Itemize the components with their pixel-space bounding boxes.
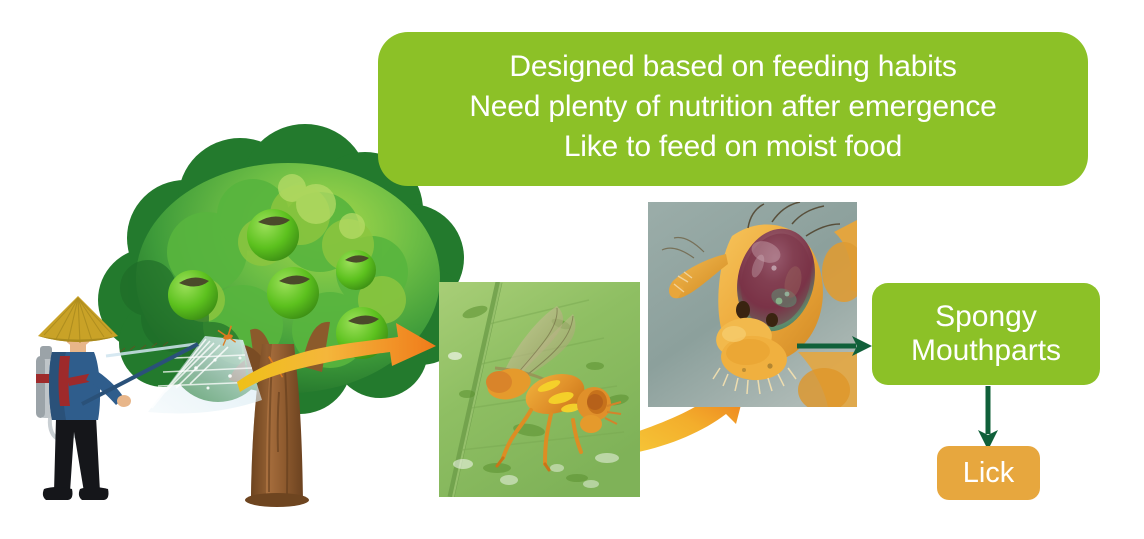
- conical-hat: [38, 296, 118, 343]
- photo-fruit-fly-on-leaf: [439, 282, 640, 497]
- farmer-with-sprayer: [36, 296, 198, 500]
- spongy-mouthparts-box: Spongy Mouthparts: [872, 283, 1100, 385]
- photo-fruit-fly-head-closeup: [648, 202, 857, 407]
- pest-flies: [218, 326, 286, 377]
- lick-box: Lick: [937, 446, 1040, 500]
- spray-cone: [106, 336, 262, 414]
- lick-label: Lick: [963, 459, 1015, 488]
- spongy-mouthparts-label: Spongy Mouthparts: [911, 300, 1061, 368]
- banner-line-1: Designed based on feeding habits: [509, 47, 956, 87]
- banner-line-2: Need plenty of nutrition after emergence: [469, 87, 996, 127]
- tree-fruits: [168, 209, 388, 359]
- feeding-habits-banner: Designed based on feeding habits Need pl…: [378, 32, 1088, 186]
- orange-arrow-tree-to-fly: [237, 323, 436, 392]
- banner-line-3: Like to feed on moist food: [564, 127, 902, 167]
- diagram-canvas: Designed based on feeding habits Need pl…: [0, 0, 1144, 539]
- tree-trunk: [229, 322, 330, 507]
- sprayer-tank: [36, 346, 60, 418]
